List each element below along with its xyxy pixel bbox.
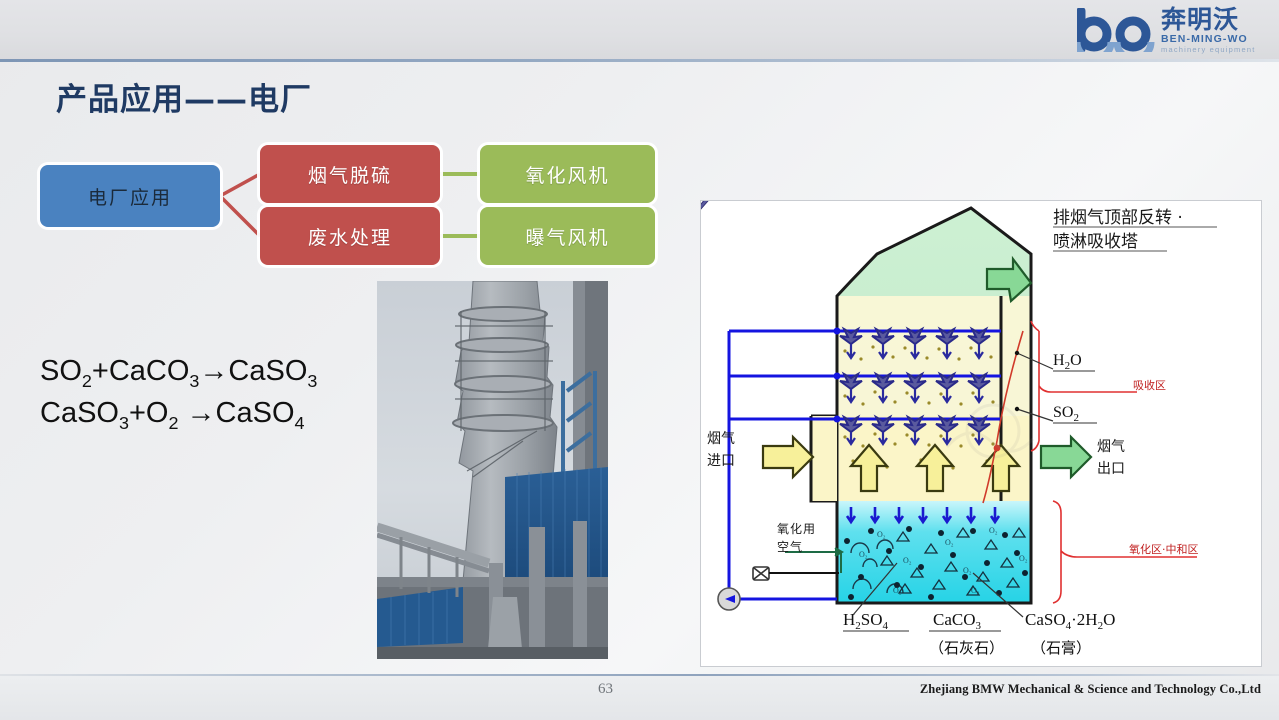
label-gas-outlet-line1: 烟气 xyxy=(1097,439,1125,455)
plant-photo xyxy=(377,281,608,659)
application-flow-chart: 电厂应用 烟气脱硫 废水处理 氧化风机 曝气风机 xyxy=(40,145,680,270)
svg-text:O₂: O₂ xyxy=(877,530,886,539)
plant-photo-image xyxy=(377,281,608,659)
footer-company-name: Zhejiang BMW Mechanical & Science and Te… xyxy=(920,682,1261,697)
diagram-title-line1: 排烟气顶部反转 · xyxy=(1053,208,1183,228)
svg-text:O₂: O₂ xyxy=(903,556,912,565)
svg-text:O₂: O₂ xyxy=(971,586,980,595)
page-number: 63 xyxy=(598,681,613,698)
label-caco3-note: （石灰石） xyxy=(929,639,1004,657)
logo-english-name: BEN-MING-WO xyxy=(1161,34,1256,45)
equation-row-1: SO2+CaCO3→CaSO3 xyxy=(40,352,370,394)
svg-text:O₂: O₂ xyxy=(1019,554,1028,563)
svg-text:O₂: O₂ xyxy=(859,550,868,559)
company-logo: 奔明沃 BEN-MING-WO machinery equipment xyxy=(1077,4,1267,56)
label-gas-inlet-line1: 烟气 xyxy=(707,431,735,447)
label-oxidation-zone: 氧化区·中和区 xyxy=(1129,542,1199,556)
label-h2so4: H2SO4 xyxy=(843,610,889,632)
page-title: 产品应用——电厂 xyxy=(56,74,312,119)
diagram-title-line2: 喷淋吸收塔 xyxy=(1053,232,1138,252)
label-gas-outlet-line2: 出口 xyxy=(1097,461,1125,477)
bo-monogram-icon xyxy=(1077,8,1155,52)
svg-text:O₂: O₂ xyxy=(963,566,972,575)
label-gypsum-note: （石膏） xyxy=(1031,639,1091,657)
label-oxidation-air-line2: 空气 xyxy=(777,539,803,554)
flow-node-oxidation-fan[interactable]: 氧化风机 xyxy=(480,145,655,203)
svg-text:O₂: O₂ xyxy=(945,538,954,547)
logo-chinese-name: 奔明沃 xyxy=(1161,7,1256,32)
logo-tagline: machinery equipment xyxy=(1161,46,1256,54)
header-divider xyxy=(0,59,1279,62)
chemical-equations: SO2+CaCO3→CaSO3 CaSO3+O2 →CaSO4 xyxy=(40,352,370,435)
flow-node-aeration-fan[interactable]: 曝气风机 xyxy=(480,207,655,265)
flow-node-wastewater-treatment[interactable]: 废水处理 xyxy=(260,207,440,265)
spray-absorption-tower-diagram: O₂ O₂ O₂ O₂ O₂ O₂ O₂ O₂ O₂ xyxy=(700,200,1262,667)
flow-node-root[interactable]: 电厂应用 xyxy=(40,165,220,227)
desulfurization-process-schematic: O₂ O₂ O₂ O₂ O₂ O₂ O₂ O₂ O₂ xyxy=(701,201,1259,664)
logo-text-block: 奔明沃 BEN-MING-WO machinery equipment xyxy=(1161,7,1256,54)
svg-text:O₂: O₂ xyxy=(893,586,902,595)
svg-text:O₂: O₂ xyxy=(989,526,998,535)
equation-row-2: CaSO3+O2 →CaSO4 xyxy=(40,394,370,436)
label-absorption-zone: 吸收区 xyxy=(1133,378,1166,392)
label-oxidation-air-line1: 氧化用 xyxy=(777,522,816,536)
flow-node-flue-gas-desulfurization[interactable]: 烟气脱硫 xyxy=(260,145,440,203)
label-gas-inlet-line2: 进口 xyxy=(707,453,735,469)
label-caco3: CaCO3 xyxy=(933,610,982,632)
